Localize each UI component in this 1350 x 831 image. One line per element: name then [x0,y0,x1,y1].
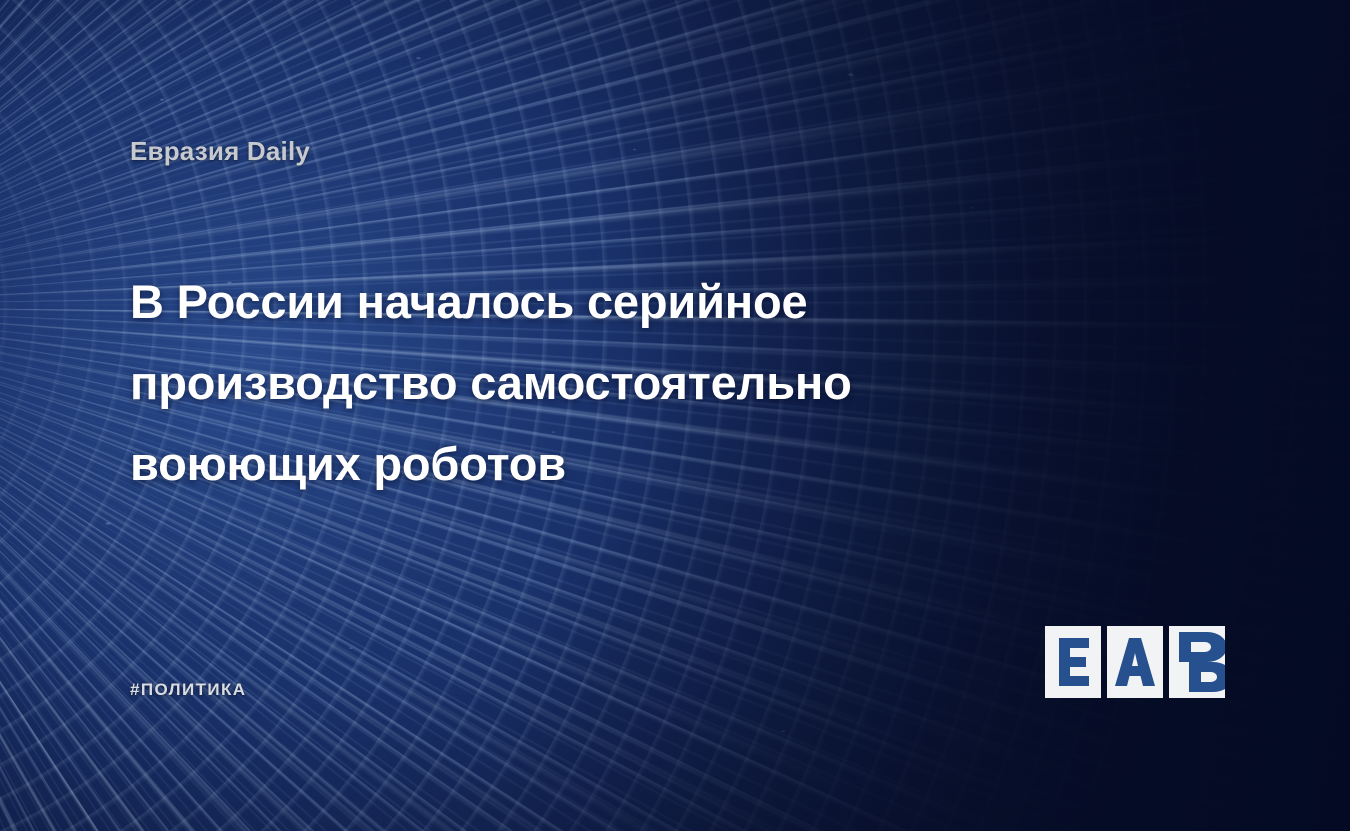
logo-tile-a [1107,626,1163,698]
brand-name: Евразия Daily [130,136,310,167]
logo-letter-d-split [1169,626,1225,698]
logo-letter-e [1045,626,1101,698]
logo-letter-a [1107,626,1163,698]
headline-text: В России началось серийное производство … [130,275,852,490]
share-card: Евразия Daily В России началось серийное… [0,0,1350,831]
category-hashtag: #ПОЛИТИКА [130,680,246,700]
card-content: Евразия Daily В России началось серийное… [0,0,1350,831]
logo-tile-e [1045,626,1101,698]
headline: В России началось серийное производство … [130,262,1030,504]
logo-tile-d [1169,626,1225,698]
ead-logo[interactable] [1045,626,1225,698]
